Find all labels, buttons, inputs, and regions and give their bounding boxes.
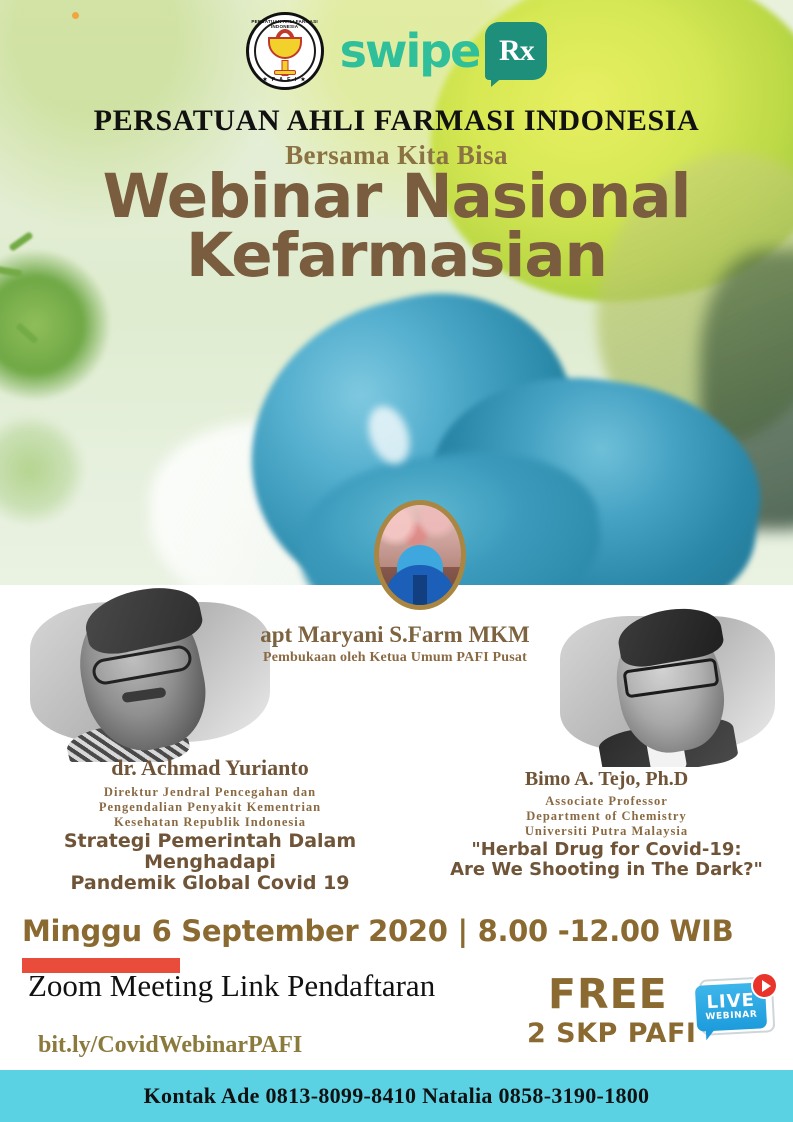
left-topic-line2: Pandemik Global Covid 19 (0, 873, 420, 894)
left-topic-line1: Strategi Pemerintah Dalam Menghadapi (0, 831, 420, 873)
speaker-block-left: dr. Achmad Yurianto Direktur Jendral Pen… (0, 755, 420, 894)
swiperx-logo: swipe Rx (340, 22, 548, 80)
speaker-block-right: Bimo A. Tejo, Ph.D Associate Professor D… (420, 768, 793, 880)
main-title: Webinar Nasional Kefarmasian (0, 168, 793, 285)
contact-text: Kontak Ade 0813-8099-8410 Natalia 0858-3… (144, 1083, 650, 1109)
contact-footer: Kontak Ade 0813-8099-8410 Natalia 0858-3… (0, 1070, 793, 1122)
left-role-line1: Direktur Jendral Pencegahan dan (0, 785, 420, 800)
left-role-line3: Kesehatan Republik Indonesia (0, 815, 420, 830)
pafi-ring-text-top: PERSATUAN AHLI FARMASI INDONESIA (249, 19, 321, 29)
left-speaker-name: dr. Achmad Yurianto (0, 755, 420, 781)
main-title-line2: Kefarmasian (0, 227, 793, 286)
center-speaker-name: apt Maryani S.Farm MKM (180, 622, 610, 648)
right-topic-line1: "Herbal Drug for Covid-19: (420, 840, 793, 860)
swiperx-dot (72, 12, 79, 19)
badge-webinar-text: WEBINAR (705, 1011, 757, 1023)
left-speaker-topic: Strategi Pemerintah Dalam Menghadapi Pan… (0, 831, 420, 894)
speaker-photo-right (560, 592, 785, 767)
right-topic-line2: Are We Shooting in The Dark?" (420, 860, 793, 880)
center-speaker-subtitle: Pembukaan oleh Ketua Umum PAFI Pusat (180, 650, 610, 666)
skp-credits-label: 2 SKP PAFI (527, 1018, 696, 1049)
rx-bubble-tail (491, 76, 504, 87)
organization-title: PERSATUAN AHLI FARMASI INDONESIA (0, 104, 793, 138)
rx-label: Rx (499, 34, 534, 68)
left-speaker-role: Direktur Jendral Pencegahan dan Pengenda… (0, 785, 420, 829)
pafi-emblem-icon: PERSATUAN AHLI FARMASI INDONESIA ★ P A F… (246, 12, 324, 90)
registration-label: Zoom Meeting Link Pendaftaran (28, 968, 435, 1004)
pafi-ring-text-bottom: ★ P A F I ★ (249, 77, 321, 83)
event-date-time: Minggu 6 September 2020 | 8.00 -12.00 WI… (22, 914, 733, 948)
virus-cell-decoration-2 (0, 415, 85, 525)
pafi-foot (274, 70, 296, 75)
right-speaker-topic: "Herbal Drug for Covid-19: Are We Shooti… (420, 840, 793, 880)
right-speaker-name: Bimo A. Tejo, Ph.D (420, 768, 793, 791)
price-free-label: FREE (548, 970, 668, 1018)
speaker-photo-left (30, 582, 280, 762)
avatar-center-speaker (374, 500, 466, 610)
right-role-line1: Associate Professor (420, 794, 793, 809)
avatar-collar (413, 575, 427, 605)
right-role-line2: Department of Chemistry (420, 809, 793, 824)
rx-badge-icon: Rx (485, 22, 547, 80)
webinar-poster: PERSATUAN AHLI FARMASI INDONESIA ★ P A F… (0, 0, 793, 1122)
live-webinar-badge: LIVE WEBINAR (694, 972, 778, 1046)
left-role-line2: Pengendalian Penyakit Kementrian (0, 800, 420, 815)
play-button-icon (751, 972, 778, 999)
right-role-line3: Universiti Putra Malaysia (420, 824, 793, 839)
right-speaker-role: Associate Professor Department of Chemis… (420, 794, 793, 838)
logo-row: PERSATUAN AHLI FARMASI INDONESIA ★ P A F… (0, 10, 793, 92)
swiperx-wordmark: swipe (340, 28, 480, 74)
registration-link[interactable]: bit.ly/CovidWebinarPAFI (38, 1032, 302, 1059)
